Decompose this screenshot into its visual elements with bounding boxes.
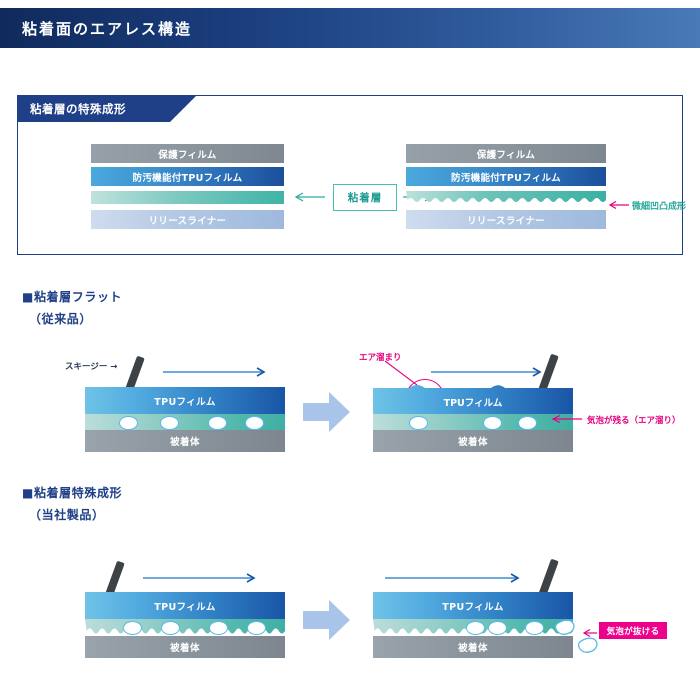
air-bubble	[488, 621, 507, 635]
right-layer-stack: 保護フィルム 防汚機能付TPUフィルム リリースライナー	[406, 144, 606, 231]
diagram-substrate-label: 被着体	[170, 640, 200, 654]
diagram-tpu-layer: TPUフィルム	[85, 592, 285, 619]
layer-label: 防汚機能付TPUフィルム	[133, 170, 243, 184]
diagram-tpu-layer: TPUフィルム	[85, 387, 285, 414]
diagram-tpu-layer: TPUフィルム	[373, 383, 573, 414]
air-bubble	[525, 621, 544, 635]
process-arrow-2-icon	[303, 600, 351, 640]
escaping-bubble	[551, 618, 577, 638]
motion-arrow-icon	[163, 367, 269, 377]
layer-label: リリースライナー	[149, 213, 227, 227]
diagram-substrate-layer: 被着体	[85, 430, 285, 452]
layer-release-liner-right: リリースライナー	[406, 210, 606, 229]
layer-label: 保護フィルム	[158, 147, 216, 161]
layer-tpu-film-right: 防汚機能付TPUフィルム	[406, 167, 606, 186]
bubble-remain-arrow-icon	[551, 414, 583, 424]
squeegee-label: スキージー →	[65, 360, 117, 372]
structure-panel: 粘着層の特殊成形 保護フィルム 防汚機能付TPUフィルム リリースライナー 粘着…	[17, 95, 683, 255]
layer-adhesive-left	[91, 191, 284, 204]
air-bubble	[518, 416, 537, 430]
bubble-escape-arrow-icon	[582, 628, 598, 638]
diagram-substrate-label: 被着体	[458, 640, 488, 654]
motion-arrow-icon	[385, 573, 525, 583]
section1-left-diagram: スキージー → TPUフィルム 被着体	[85, 355, 285, 440]
motion-arrow-icon	[143, 573, 259, 583]
diagram-tpu-label: TPUフィルム	[442, 599, 504, 613]
air-bubble	[209, 621, 228, 635]
air-bubble	[123, 621, 142, 635]
left-layer-stack: 保護フィルム 防汚機能付TPUフィルム リリースライナー	[91, 144, 284, 231]
layer-protect-film-right: 保護フィルム	[406, 144, 606, 163]
air-bubble	[247, 621, 266, 635]
section2-heading: ■粘着層特殊成形	[22, 484, 122, 501]
layer-tpu-film-left: 防汚機能付TPUフィルム	[91, 167, 284, 186]
diagram-substrate-layer: 被着体	[373, 430, 573, 452]
diagram-substrate-label: 被着体	[458, 434, 488, 448]
layer-adhesive-right-textured	[406, 191, 606, 204]
air-bubble	[245, 416, 264, 430]
bubble-escape-badge: 気泡が抜ける	[599, 622, 667, 639]
page-title: 粘着面のエアレス構造	[22, 18, 192, 39]
micro-texture-annotation-label: 微細凹凸成形	[632, 202, 686, 212]
page-header: 粘着面のエアレス構造	[0, 8, 700, 48]
air-bubble	[466, 621, 485, 635]
diagram-tpu-label: TPUフィルム	[154, 394, 216, 408]
layer-release-liner-left: リリースライナー	[91, 210, 284, 229]
bubble-escape-label: 気泡が抜ける	[607, 625, 660, 637]
diagram-substrate-layer: 被着体	[85, 636, 285, 658]
diagram-tpu-layer: TPUフィルム	[373, 592, 573, 619]
layer-label: リリースライナー	[467, 213, 545, 227]
micro-texture-annotation: 微細凹凸成形	[632, 199, 686, 212]
section1-right-diagram: エア溜まり TPUフィルム 被着体	[373, 355, 573, 440]
section2-left-diagram: TPUフィルム 被着体	[85, 560, 285, 645]
air-bubble	[409, 416, 428, 430]
air-bubble	[483, 416, 502, 430]
section1-subheading: （従来品）	[29, 310, 92, 327]
panel-tab-skew-decoration	[170, 96, 196, 122]
air-bubble	[119, 416, 138, 430]
air-bubble	[160, 416, 179, 430]
layer-protect-film-left: 保護フィルム	[91, 144, 284, 163]
section2-right-diagram: TPUフィルム 被着体	[373, 560, 573, 645]
arrow-left-icon	[294, 192, 326, 202]
diagram-tpu-label: TPUフィルム	[154, 599, 216, 613]
escaping-bubble	[574, 636, 600, 656]
diagram-tpu-label: TPUフィルム	[444, 395, 503, 409]
air-bubble	[208, 416, 227, 430]
diagram-adhesive-layer	[373, 414, 573, 430]
adhesive-layer-callout: 粘着層	[333, 184, 397, 211]
section2-subheading: （当社製品）	[29, 506, 105, 523]
layer-label: 防汚機能付TPUフィルム	[451, 170, 561, 184]
diagram-substrate-layer: 被着体	[373, 636, 573, 658]
layer-label: 保護フィルム	[477, 147, 535, 161]
bubble-remain-label: 気泡が残る（エア溜り）	[587, 414, 681, 426]
adhesive-layer-callout-label: 粘着層	[348, 190, 383, 205]
annotation-arrow-icon	[608, 200, 630, 210]
diagram-substrate-label: 被着体	[170, 434, 200, 448]
section1-heading: ■粘着層フラット	[22, 288, 122, 305]
air-bubble	[161, 621, 180, 635]
process-arrow-1-icon	[303, 392, 351, 432]
motion-arrow-icon	[431, 367, 545, 377]
panel-tab-label: 粘着層の特殊成形	[18, 96, 170, 122]
